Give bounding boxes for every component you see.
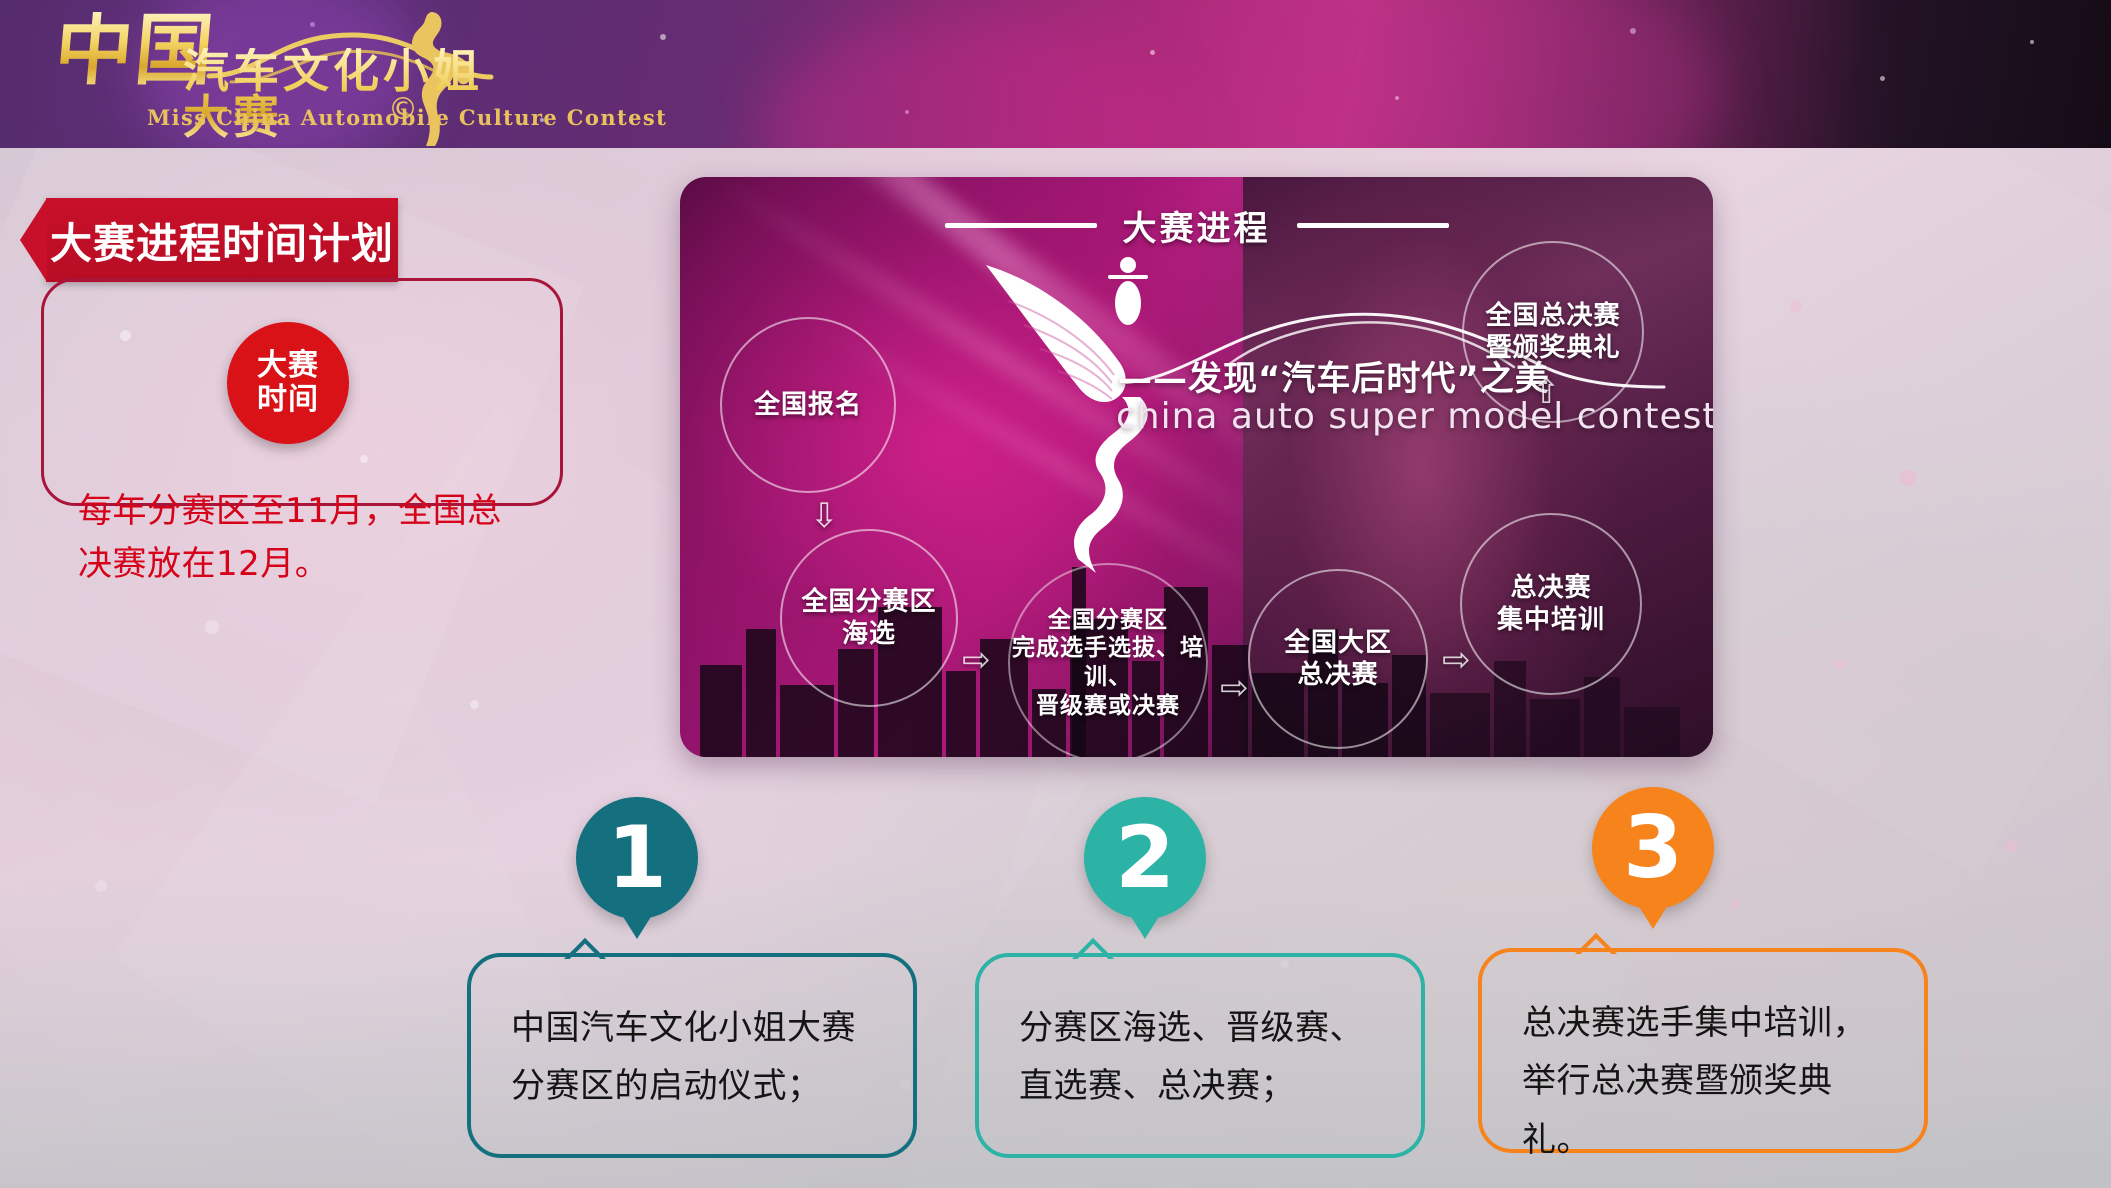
process-arrow-3-icon: ⇨ [1220, 671, 1249, 705]
section-title-ribbon: 大赛进程时间计划 [46, 198, 398, 282]
step-callout-beak-2 [1063, 931, 1121, 959]
process-node-national-final-label: 全国总决赛 暨颁奖典礼 [1485, 300, 1620, 365]
step-tail-1 [622, 915, 652, 939]
process-arrow-2-icon: ⇨ [962, 643, 991, 677]
header-glow-right [1380, 0, 1720, 148]
step-callout-beak-3 [1566, 926, 1624, 954]
poster-title-text: 大赛进程 [1123, 201, 1271, 250]
step-callout-1[interactable]: 中国汽车文化小姐大赛分赛区的启动仪式； [467, 953, 917, 1158]
page-title: 大赛进程时间计划 [46, 198, 398, 282]
process-arrow-1-icon: ⇩ [810, 499, 839, 533]
step-circle-2[interactable]: 2 [1084, 797, 1206, 919]
poster-title-rule-right [1297, 223, 1449, 228]
step-callout-3[interactable]: 总决赛选手集中培训，举行总决赛暨颁奖典礼。 [1478, 948, 1928, 1153]
step-callout-text-2: 分赛区海选、晋级赛、直选赛、总决赛； [1019, 999, 1391, 1116]
process-node-regional-open: 全国分赛区 海选 [780, 529, 958, 707]
step-tail-2 [1130, 915, 1160, 939]
process-node-regional-full: 全国分赛区 完成选手选拔、培训、 晋级赛或决赛 [1008, 563, 1208, 757]
header-banner: 中国 汽车文化小姐大赛 Miss China Automobile Cultur… [0, 0, 2111, 148]
contest-time-description: 每年分赛区至11月，全国总决赛放在12月。 [78, 485, 528, 590]
process-node-zone-final: 全国大区 总决赛 [1248, 569, 1428, 749]
step-circle-3[interactable]: 3 [1592, 787, 1714, 909]
step-number-1: 1 [607, 815, 667, 901]
copyright-icon: © [388, 92, 418, 127]
header-glow-mid [760, 20, 1180, 148]
step-callout-beak-1 [555, 931, 613, 959]
process-node-signup: 全国报名 [720, 317, 896, 493]
step-callout-2[interactable]: 分赛区海选、晋级赛、直选赛、总决赛； [975, 953, 1425, 1158]
poster-tagline-en: china auto super model contest [1116, 396, 1713, 437]
process-arrow-4-icon: ⇨ [1442, 643, 1471, 677]
badge-line-1: 大赛 [257, 349, 319, 383]
step-callout-text-3: 总决赛选手集中培训，举行总决赛暨颁奖典礼。 [1522, 994, 1894, 1169]
poster-title-rule-left [945, 223, 1097, 228]
slide-root: 中国 汽车文化小姐大赛 Miss China Automobile Cultur… [0, 0, 2111, 1188]
step-tail-3 [1638, 905, 1668, 929]
step-number-3: 3 [1623, 805, 1683, 891]
process-node-national-final: 全国总决赛 暨颁奖典礼 [1462, 241, 1644, 423]
brand-logo: 中国 汽车文化小姐大赛 Miss China Automobile Cultur… [55, 6, 525, 144]
process-node-zone-final-label: 全国大区 总决赛 [1284, 627, 1392, 692]
process-node-regional-open-label: 全国分赛区 海选 [801, 586, 936, 651]
step-number-2: 2 [1115, 815, 1175, 901]
step-circle-1[interactable]: 1 [576, 797, 698, 919]
process-node-final-train-label: 总决赛 集中培训 [1497, 572, 1605, 637]
process-node-final-train: 总决赛 集中培训 [1460, 513, 1642, 695]
process-node-signup-label: 全国报名 [754, 389, 862, 422]
contest-time-badge: 大赛 时间 [227, 322, 349, 444]
process-node-regional-full-label: 全国分赛区 完成选手选拔、培训、 晋级赛或决赛 [1010, 606, 1206, 721]
contest-process-poster: 大赛进程 ——发现“汽车后时代”之美 china auto super mode… [680, 177, 1713, 757]
badge-line-2: 时间 [257, 383, 319, 417]
step-callout-text-1: 中国汽车文化小姐大赛分赛区的启动仪式； [511, 999, 883, 1116]
